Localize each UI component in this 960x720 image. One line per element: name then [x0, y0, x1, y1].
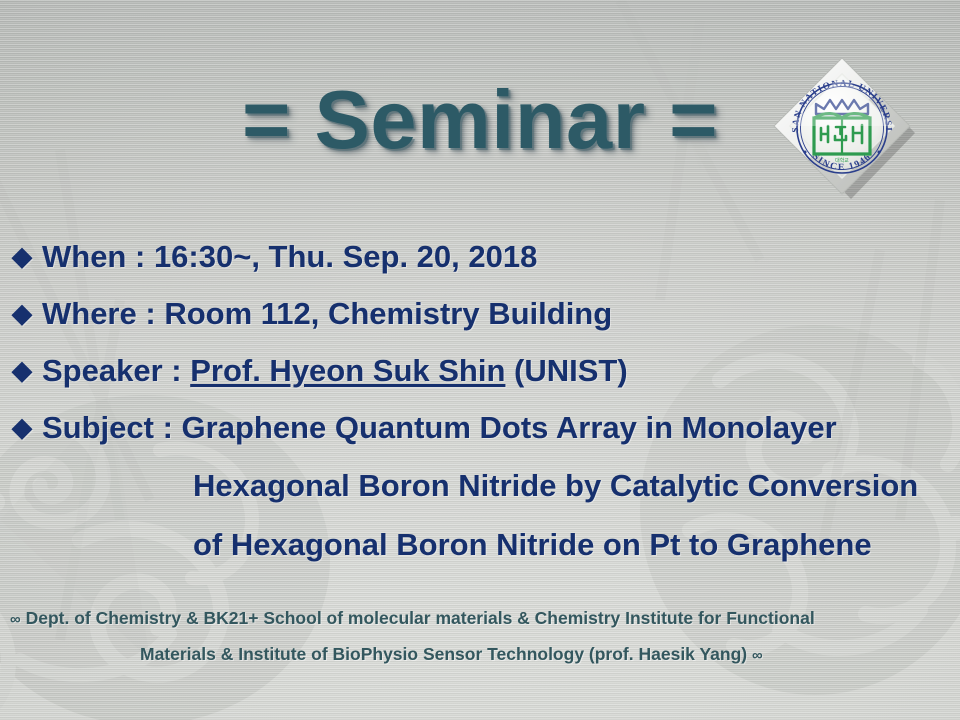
- speaker-affiliation: (UNIST): [514, 353, 628, 388]
- detail-row-where: ◆Where : Room 112, Chemistry Building: [12, 296, 612, 332]
- infinity-icon-right: ∞: [752, 647, 763, 664]
- diamond-bullet-icon: ◆: [12, 298, 32, 329]
- subject-line-2: Hexagonal Boron Nitride by Catalytic Con…: [193, 468, 918, 503]
- footer-affiliation-text-1: Dept. of Chemistry & BK21+ School of mol…: [26, 608, 815, 628]
- subject-label: Subject :: [42, 410, 173, 445]
- svg-text:대학교: 대학교: [835, 157, 849, 164]
- infinity-icon-left: ∞: [10, 611, 21, 628]
- subject-line-1: Graphene Quantum Dots Array in Monolayer: [182, 410, 837, 445]
- where-value: Room 112, Chemistry Building: [164, 296, 612, 331]
- where-label: Where :: [42, 296, 156, 331]
- diamond-bullet-icon: ◆: [12, 241, 32, 272]
- seminar-poster-slide: = Seminar =: [0, 0, 960, 720]
- pusan-national-university-logo: PUSAN NATIONAL UNIVERSITY SINCE 1946 대학교: [768, 52, 916, 200]
- when-value: 16:30~, Thu. Sep. 20, 2018: [154, 239, 537, 274]
- speaker-name: Prof. Hyeon Suk Shin: [190, 353, 505, 388]
- diamond-bullet-icon: ◆: [12, 412, 32, 443]
- speaker-label: Speaker :: [42, 353, 182, 388]
- subject-continuation-line-2: Hexagonal Boron Nitride by Catalytic Con…: [193, 468, 918, 504]
- diamond-bullet-icon: ◆: [12, 355, 32, 386]
- detail-row-subject: ◆Subject : Graphene Quantum Dots Array i…: [12, 410, 837, 446]
- subject-line-3: of Hexagonal Boron Nitride on Pt to Grap…: [193, 527, 872, 562]
- when-label: When :: [42, 239, 145, 274]
- footer-affiliation-text-2: Materials & Institute of BioPhysio Senso…: [140, 644, 747, 664]
- footer-line-1: ∞ Dept. of Chemistry & BK21+ School of m…: [10, 608, 815, 629]
- footer-line-2: Materials & Institute of BioPhysio Senso…: [140, 644, 763, 665]
- detail-row-when: ◆When : 16:30~, Thu. Sep. 20, 2018: [12, 239, 537, 275]
- subject-continuation-line-3: of Hexagonal Boron Nitride on Pt to Grap…: [193, 527, 872, 563]
- detail-row-speaker: ◆Speaker : Prof. Hyeon Suk Shin (UNIST): [12, 353, 628, 389]
